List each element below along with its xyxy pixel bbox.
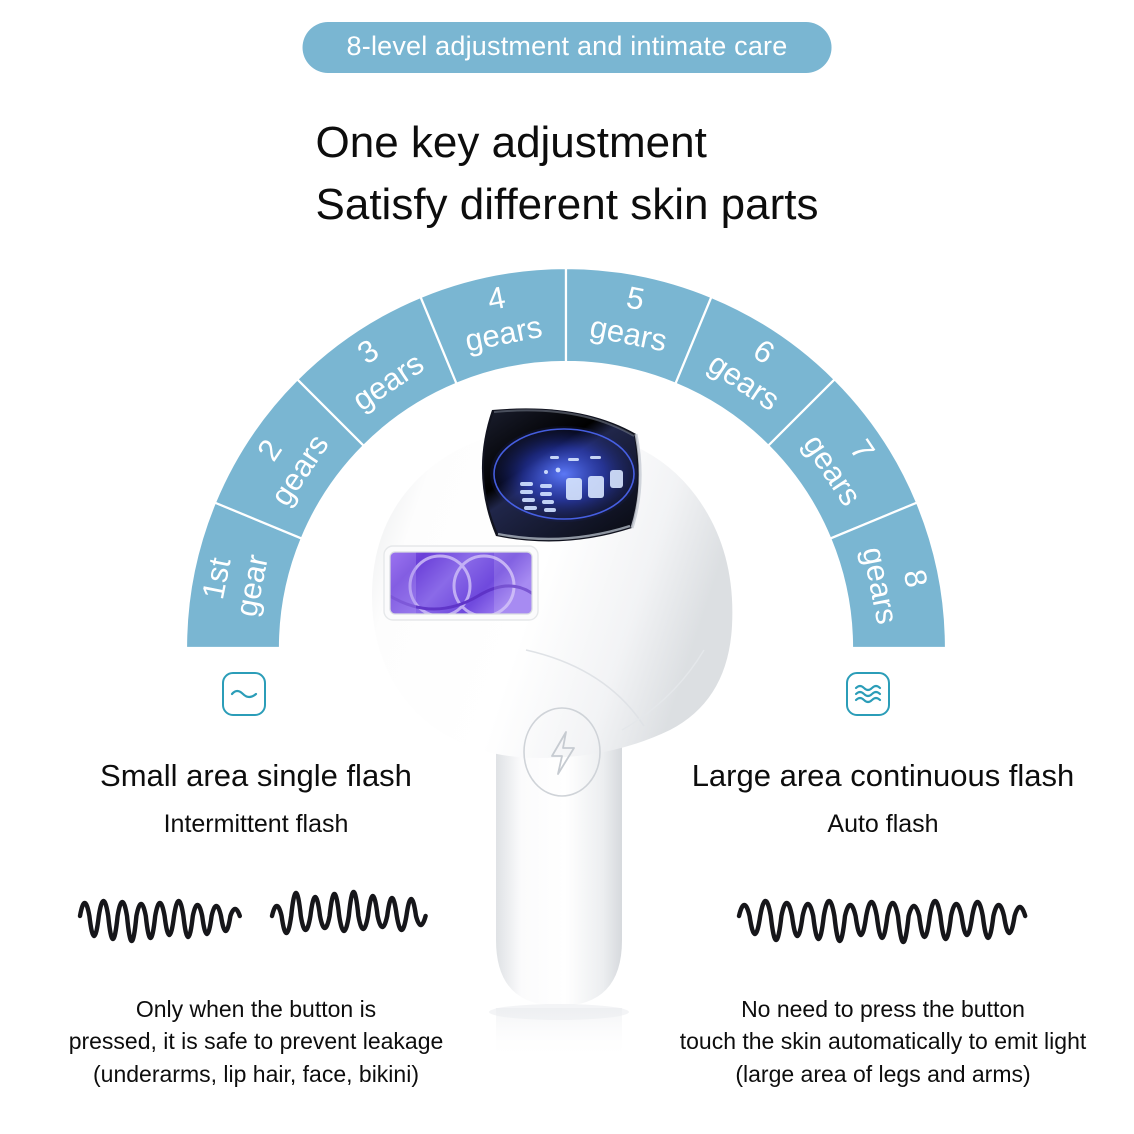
right-mode-title: Large area continuous flash — [648, 758, 1118, 795]
gear-segment-8-number: 8 — [897, 567, 935, 591]
gear-segment-2-word: gears — [263, 428, 335, 512]
left-mode-subtitle: Intermittent flash — [26, 809, 486, 839]
gear-segment-8[interactable] — [830, 503, 946, 648]
left-desc-line-1: Only when the button is — [26, 993, 486, 1026]
right-desc-line-3: (large area of legs and arms) — [648, 1058, 1118, 1091]
left-mode-title: Small area single flash — [26, 758, 486, 795]
gear-segment-6-number: 6 — [747, 332, 781, 371]
gear-segment-4-number: 4 — [485, 280, 509, 318]
left-desc-line-2: pressed, it is safe to prevent leakage — [26, 1025, 486, 1058]
device-reflection — [496, 1008, 622, 1060]
single-wave-icon — [230, 686, 258, 702]
led-level-display — [482, 408, 640, 541]
headline-line-1: One key adjustment — [316, 112, 819, 174]
gear-segment-7-word: gears — [796, 428, 868, 512]
continuous-waveform — [648, 861, 1118, 971]
gear-segment-8-word: gears — [856, 544, 905, 627]
flash-lamp-window — [384, 546, 540, 620]
single-wave-badge — [222, 672, 266, 716]
banner-text: 8-level adjustment and intimate care — [347, 31, 788, 61]
triple-wave-icon — [854, 683, 882, 705]
gear-segment-2-number: 2 — [250, 433, 289, 467]
triple-wave-badge — [846, 672, 890, 716]
gear-segment-2[interactable] — [215, 379, 364, 538]
left-mode-description: Only when the button is pressed, it is s… — [26, 993, 486, 1091]
intermittent-waveform — [26, 861, 486, 971]
mode-column-right: Large area continuous flash Auto flash N… — [648, 758, 1118, 1091]
gear-segment-1-number: 1st — [195, 554, 237, 602]
gear-segment-1[interactable] — [186, 503, 302, 648]
page-title: One key adjustment Satisfy different ski… — [316, 112, 819, 235]
gear-segment-5-number: 5 — [624, 280, 648, 318]
gear-segment-7-number: 7 — [843, 433, 882, 467]
gear-segment-7[interactable] — [768, 379, 917, 538]
right-desc-line-2: touch the skin automatically to emit lig… — [648, 1025, 1118, 1058]
mode-column-left: Small area single flash Intermittent fla… — [26, 758, 486, 1091]
right-desc-line-1: No need to press the button — [648, 993, 1118, 1026]
gear-segment-5[interactable] — [566, 268, 711, 384]
gear-segment-4[interactable] — [421, 268, 566, 384]
infographic-canvas: 8-level adjustment and intimate care One… — [0, 0, 1134, 1134]
gear-segment-5-word: gears — [587, 309, 670, 358]
gear-segment-3-number: 3 — [351, 332, 385, 371]
banner-pill: 8-level adjustment and intimate care — [303, 22, 832, 73]
right-mode-description: No need to press the button touch the sk… — [648, 993, 1118, 1091]
left-desc-line-3: (underarms, lip hair, face, bikini) — [26, 1058, 486, 1091]
headline-line-2: Satisfy different skin parts — [316, 174, 819, 236]
gear-segment-4-word: gears — [462, 309, 545, 358]
gear-segment-1-word: gear — [228, 552, 274, 620]
right-mode-subtitle: Auto flash — [648, 809, 1118, 839]
